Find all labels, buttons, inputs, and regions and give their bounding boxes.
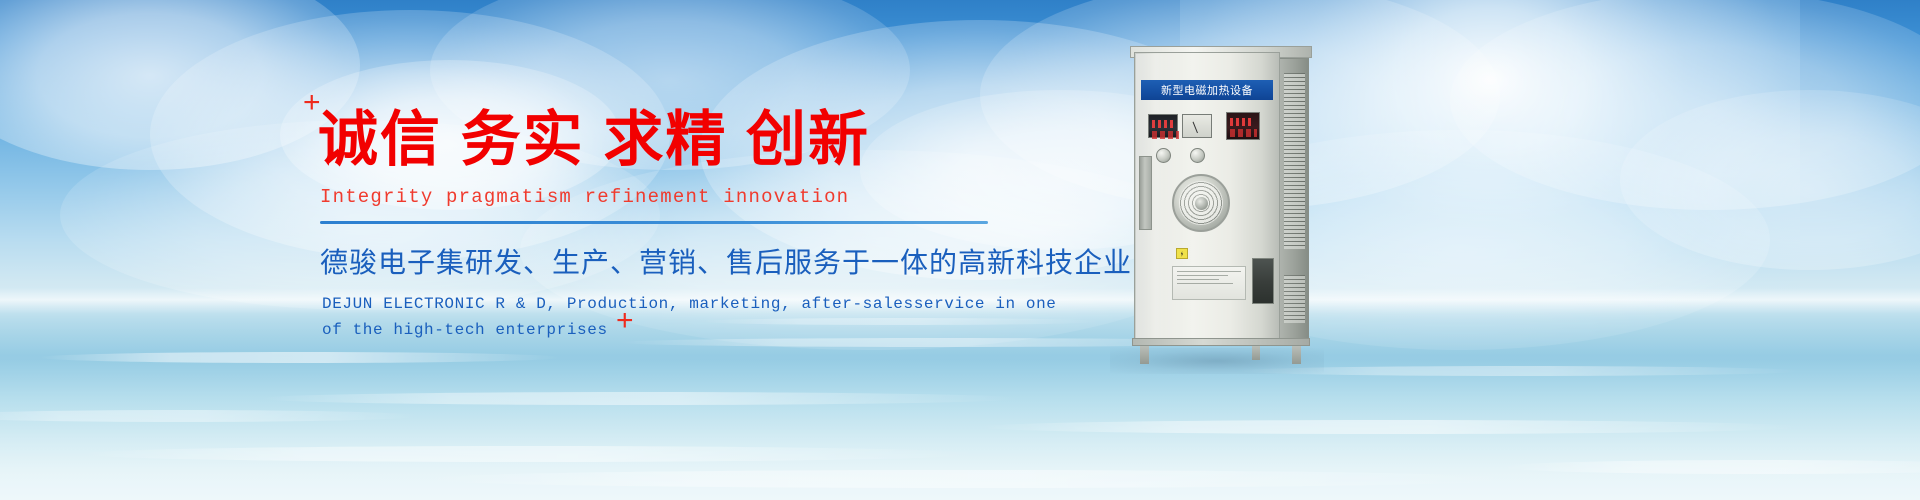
product-spec-plate	[1172, 266, 1246, 300]
plate-line	[1177, 279, 1219, 280]
warning-sticker-icon	[1176, 248, 1188, 259]
keypad-buttons	[1230, 129, 1257, 137]
digit-readout	[1230, 118, 1254, 126]
control-knob	[1156, 148, 1171, 163]
product-image: 新型电磁加热设备	[1120, 52, 1316, 352]
product-foot	[1252, 346, 1260, 360]
product-side-panel	[1279, 58, 1309, 344]
banner-subtitle-english-line1: DEJUN ELECTRONIC R & D, Production, mark…	[322, 291, 1038, 317]
hero-banner: + + 诚信 务实 求精 创新 Integrity pragmatism ref…	[0, 0, 1920, 500]
control-meter-display	[1148, 114, 1178, 138]
banner-text-block: 诚信 务实 求精 创新 Integrity pragmatism refinem…	[318, 84, 1038, 344]
vent-grille-icon	[1284, 275, 1305, 323]
gauge-needle-icon	[1193, 122, 1198, 134]
product-base	[1132, 338, 1310, 346]
plate-line	[1177, 275, 1228, 276]
product-label: 新型电磁加热设备	[1141, 80, 1273, 100]
analog-gauge	[1182, 114, 1212, 138]
control-keypad	[1226, 112, 1260, 140]
banner-subtitle-english-line2: of the high-tech enterprises	[322, 317, 1038, 343]
fan-grille-icon	[1172, 174, 1230, 232]
digit-readout	[1152, 120, 1176, 128]
meter-buttons	[1152, 131, 1179, 139]
vent-grille-icon	[1284, 73, 1305, 249]
product-foot	[1140, 346, 1149, 364]
banner-headline: 诚信 务实 求精 创新	[318, 84, 1038, 170]
plate-line	[1177, 283, 1233, 284]
control-knob	[1190, 148, 1205, 163]
product-left-rail	[1139, 156, 1152, 230]
banner-subtitle-chinese: 德骏电子集研发、生产、营销、售后服务于一体的高新科技企业	[318, 224, 1038, 281]
banner-subtitle-english: DEJUN ELECTRONIC R & D, Production, mark…	[318, 281, 1038, 344]
front-vent-grille-icon	[1252, 258, 1274, 304]
plate-line	[1177, 271, 1241, 272]
fan-hub	[1195, 197, 1208, 210]
product-foot	[1292, 346, 1301, 364]
banner-tagline-english: Integrity pragmatism refinement innovati…	[318, 170, 1038, 208]
